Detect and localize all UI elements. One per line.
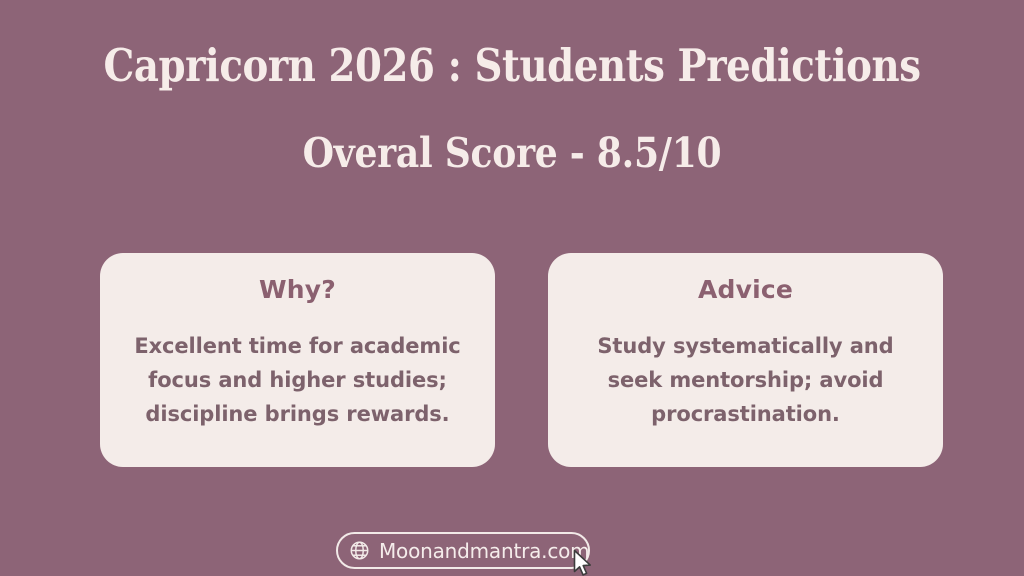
slide-canvas: Capricorn 2026 : Students Predictions Ov…	[0, 0, 1024, 576]
card-advice-heading: Advice	[698, 275, 793, 305]
website-name: Moonandmantra.com	[379, 540, 589, 562]
card-why: Why? Excellent time for academic focus a…	[100, 253, 495, 467]
page-title: Capricorn 2026 : Students Predictions	[72, 40, 953, 92]
card-why-body: Excellent time for academic focus and hi…	[122, 329, 473, 431]
cards-row: Why? Excellent time for academic focus a…	[100, 253, 943, 467]
website-watermark-badge[interactable]: Moonandmantra.com	[336, 532, 590, 569]
overall-score-subtitle: Overal Score - 8.5/10	[61, 129, 962, 177]
globe-icon	[349, 540, 370, 561]
card-advice: Advice Study systematically and seek men…	[548, 253, 943, 467]
card-why-heading: Why?	[259, 275, 336, 305]
card-advice-body: Study systematically and seek mentorship…	[570, 329, 921, 431]
